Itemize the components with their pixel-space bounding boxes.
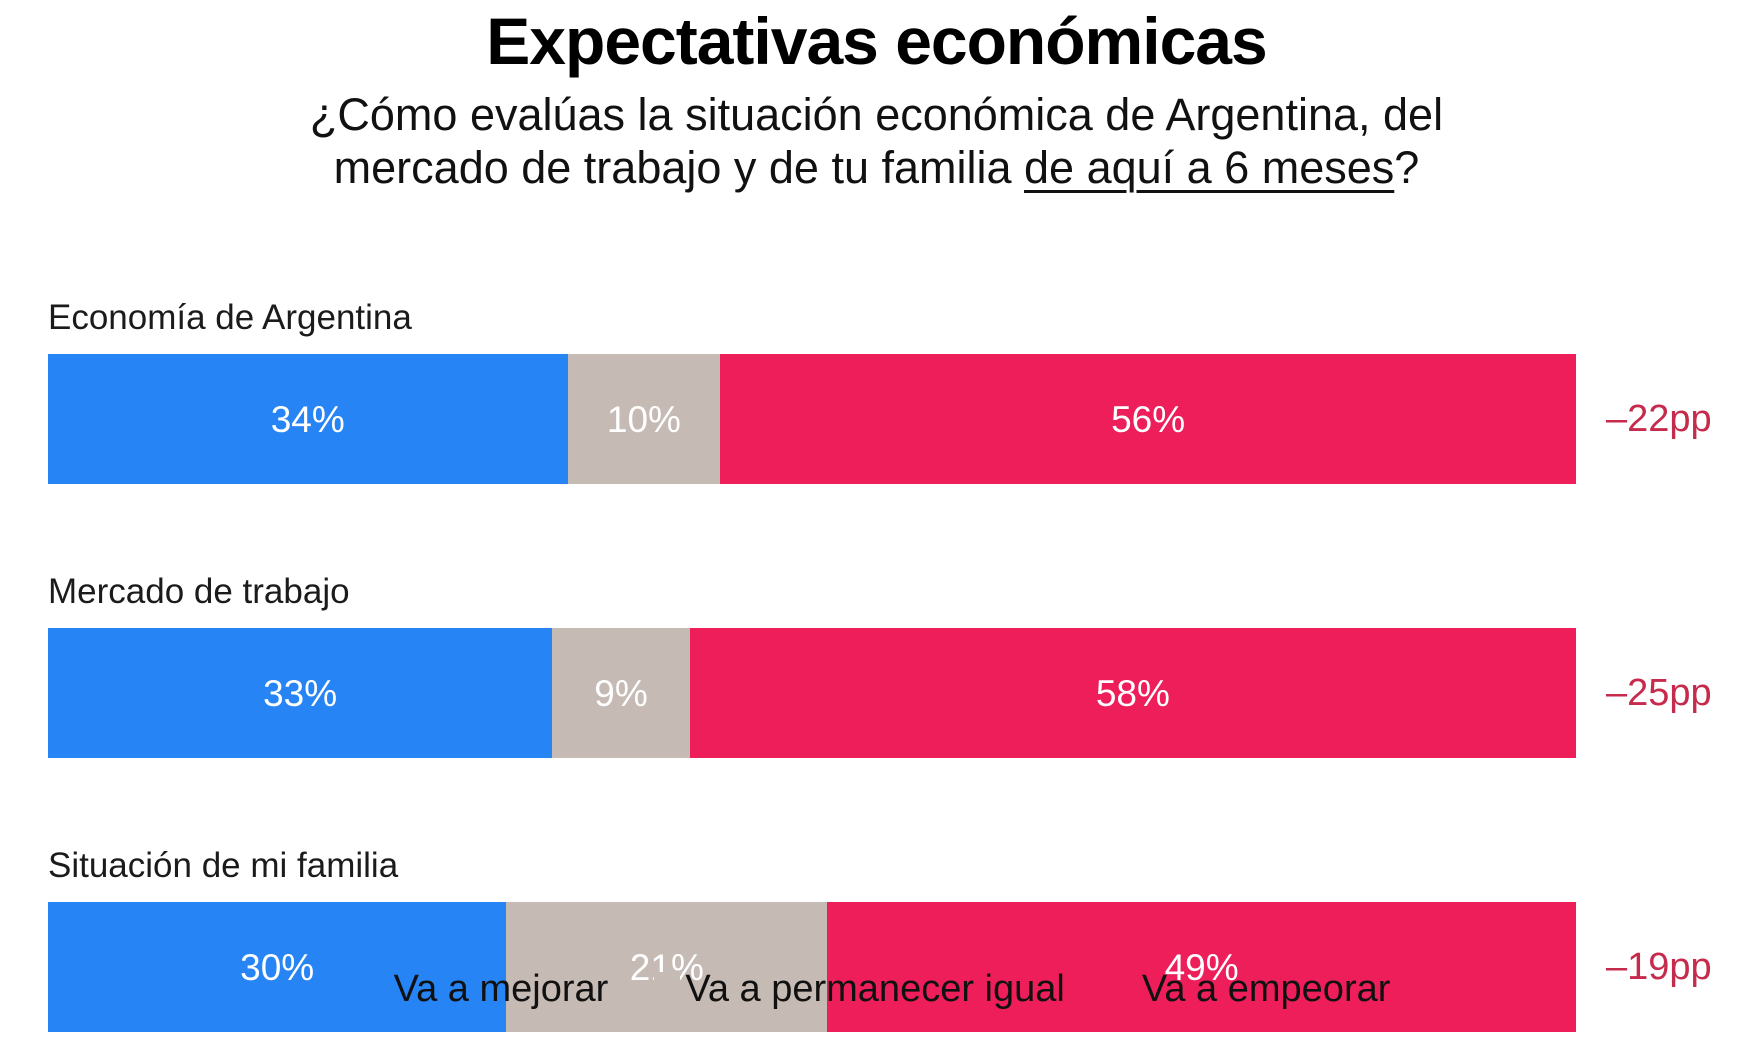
bar-segment-same[interactable]: 10%	[568, 354, 721, 484]
bar-segment-worse[interactable]: 56%	[720, 354, 1576, 484]
bar-segment-value: 56%	[1111, 401, 1185, 438]
chart-plot-area: Economía de Argentina 34% 10% 56% –22pp …	[48, 300, 1576, 1032]
legend-swatch-better-icon	[363, 972, 389, 1006]
bar-group-mercado-de-trabajo: Mercado de trabajo 33% 9% 58% –25pp	[48, 574, 1576, 758]
legend-swatch-worse-icon	[1111, 972, 1137, 1006]
bar-segment-worse[interactable]: 58%	[690, 628, 1576, 758]
stacked-bar: 34% 10% 56% –22pp	[48, 354, 1576, 484]
bar-group-economia-de-argentina: Economía de Argentina 34% 10% 56% –22pp	[48, 300, 1576, 484]
legend-item-better[interactable]: Va a mejorar	[363, 970, 609, 1008]
chart-subtitle: ¿Cómo evalúas la situación económica de …	[127, 88, 1627, 194]
bar-segment-better[interactable]: 34%	[48, 354, 568, 484]
net-difference-annotation: –25pp	[1606, 674, 1712, 712]
bar-segment-value: 33%	[263, 675, 337, 712]
bar-segment-value: 10%	[607, 401, 681, 438]
category-label: Mercado de trabajo	[48, 574, 1576, 609]
subtitle-line-2-post: ?	[1394, 142, 1419, 193]
net-difference-annotation: –22pp	[1606, 400, 1712, 438]
stacked-bar: 30% 21% 49% –19pp	[48, 902, 1576, 1032]
legend-label: Va a empeorar	[1142, 970, 1391, 1008]
chart-header: Expectativas económicas ¿Cómo evalúas la…	[0, 0, 1753, 194]
subtitle-line-1: ¿Cómo evalúas la situación económica de …	[310, 89, 1443, 140]
bar-segment-same[interactable]: 9%	[552, 628, 690, 758]
bar-segment-better[interactable]: 33%	[48, 628, 552, 758]
legend-label: Va a permanecer igual	[685, 970, 1065, 1008]
chart-legend: Va a mejorar Va a permanecer igual Va a …	[0, 970, 1753, 1008]
bar-segment-better[interactable]: 30%	[48, 902, 506, 1032]
legend-swatch-same-icon	[654, 972, 680, 1006]
bar-segment-value: 9%	[594, 675, 647, 712]
bar-segment-same[interactable]: 21%	[506, 902, 827, 1032]
stacked-bar: 33% 9% 58% –25pp	[48, 628, 1576, 758]
legend-item-worse[interactable]: Va a empeorar	[1111, 970, 1391, 1008]
bar-segment-value: 58%	[1096, 675, 1170, 712]
bar-segment-value: 34%	[271, 401, 345, 438]
legend-item-same[interactable]: Va a permanecer igual	[654, 970, 1065, 1008]
bar-segment-worse[interactable]: 49%	[827, 902, 1576, 1032]
category-label: Situación de mi familia	[48, 848, 1576, 883]
legend-label: Va a mejorar	[394, 970, 609, 1008]
subtitle-emphasis: de aquí a 6 meses	[1024, 142, 1394, 193]
page-title: Expectativas económicas	[0, 8, 1753, 74]
subtitle-line-2-pre: mercado de trabajo y de tu familia	[334, 142, 1024, 193]
category-label: Economía de Argentina	[48, 300, 1576, 335]
